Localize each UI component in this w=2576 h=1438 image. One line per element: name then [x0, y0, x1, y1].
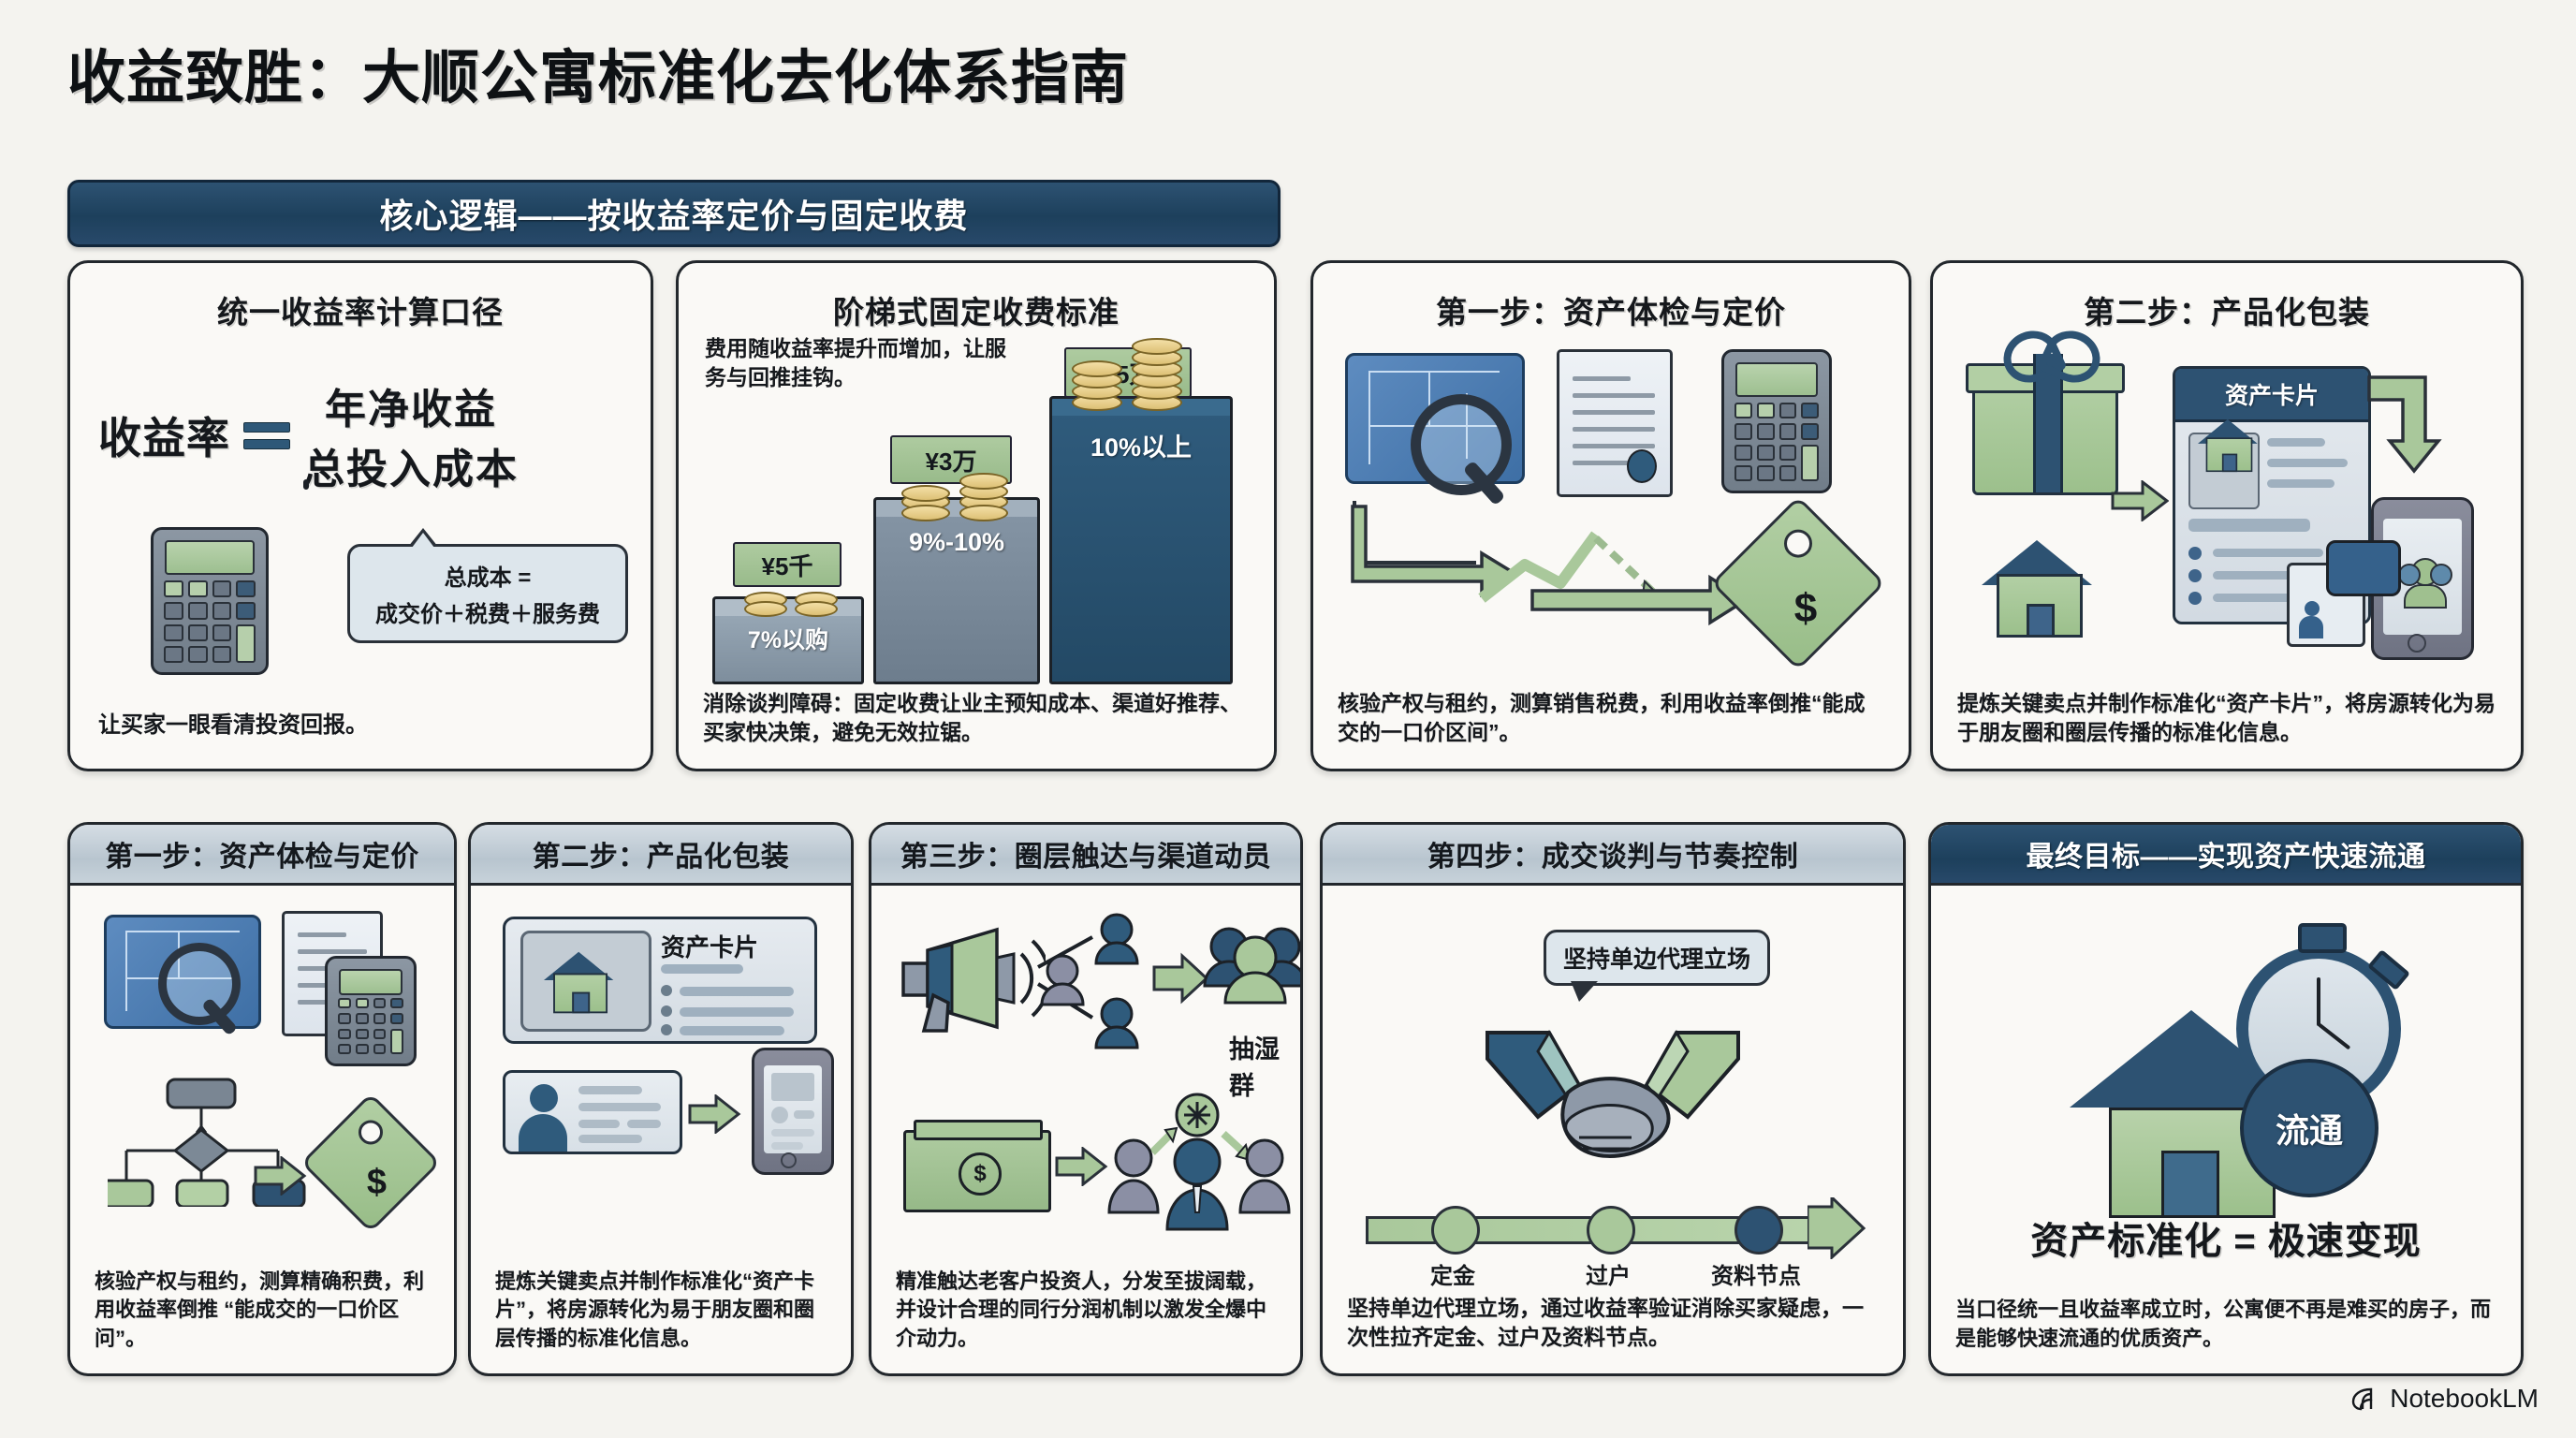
core-logic-banner-label: 核心逻辑——按收益率定价与固定收费 [379, 189, 968, 238]
formula-numerator: 年净收益 [303, 375, 519, 435]
card-step-3-caption: 精准触达老客户投资人，分发至拔阔载，并设计合理的同行分润机制以激发全爆中介动力。 [896, 1268, 1276, 1353]
total-cost-bubble: 总成本 = 成交价＋税费＋服务费 [347, 544, 628, 643]
fee-tier-bar-chart: 7%以购 ¥5千 9%-10% ¥3万 [705, 357, 1251, 684]
timeline-label-2: 过户 [1552, 1257, 1664, 1290]
magnifier-icon [158, 943, 241, 1025]
circulation-badge-icon: 流通 [2240, 1059, 2378, 1197]
card-step-4: 第四步：成交谈判与节奏控制 坚持单边代理立场 定金 过户 资料节点 坚持单边代理… [1320, 822, 1906, 1376]
card-step-2-header: 第二步：产品化包装 [471, 825, 851, 886]
bar-tier-3: 10%以上 [1049, 409, 1233, 684]
speech-bubble-icon [2326, 540, 2401, 596]
circulation-badge-label: 流通 [2276, 1104, 2343, 1152]
bar-tier-2: 9%-10% [873, 510, 1040, 684]
timeline-label-1: 定金 [1397, 1257, 1509, 1290]
card-step-2-caption: 提炼关键卖点并制作标准化“资产卡片”，将房源转化为易于朋友圈和圈层传播的标准化信… [495, 1268, 827, 1353]
infographic-page: 收益致胜：大顺公寓标准化去化体系指南 核心逻辑——按收益率定价与固定收费 统一收… [0, 0, 2576, 1438]
phone-icon [752, 1048, 834, 1175]
card-step-2-header-label: 第二步：产品化包装 [533, 833, 790, 874]
card-step-2: 第二步：产品化包装 资产卡片 [468, 822, 854, 1376]
card-step-3: 第三步：圈层触达与渠道动员 抽 [869, 822, 1303, 1376]
card-step-3-header-label: 第三步：圈层触达与渠道动员 [900, 833, 1272, 874]
bar-tier-3-category: 10%以上 [1090, 427, 1192, 463]
card-step2-top-title: 第二步：产品化包装 [1933, 287, 2521, 332]
card-final-goal: 最终目标——实现资产快速流通 流通 资产标准化 = 极速变现 当口径统一且收益率… [1928, 822, 2524, 1376]
total-cost-line1: 总成本 = [359, 559, 616, 592]
card-step-4-header-label: 第四步：成交谈判与节奏控制 [1427, 833, 1799, 874]
timeline-node-3 [1734, 1206, 1783, 1255]
card-step2-top-caption: 提炼关键卖点并制作标准化“资产卡片”，将房源转化为易于朋友圈和圈层传播的标准化信… [1957, 689, 2496, 748]
core-logic-banner: 核心逻辑——按收益率定价与固定收费 [67, 180, 1281, 247]
card-step-1-header-label: 第一步：资产体检与定价 [105, 833, 419, 874]
agents-icon [1100, 1089, 1296, 1239]
stance-speech-bubble-label: 坚持单边代理立场 [1563, 946, 1750, 973]
card-final-goal-header: 最终目标——实现资产快速流通 [1931, 825, 2521, 886]
notebooklm-logo-icon [2350, 1386, 2378, 1412]
card-step-3-header: 第三步：圈层触达与渠道动员 [871, 825, 1300, 886]
notebooklm-watermark-label: NotebookLM [2390, 1384, 2539, 1414]
card-fee-tiers: 阶梯式固定收费标准 费用随收益率提升而增加，让服务与回推挂钩。 7%以购 ¥5千… [676, 260, 1277, 771]
asset-card-icon: 资产卡片 [503, 917, 817, 1044]
bar-tier-1-value-note: ¥5千 [733, 542, 842, 587]
card-step1-top-title: 第一步：资产体检与定价 [1313, 287, 1909, 332]
stance-speech-bubble: 坚持单边代理立场 [1544, 930, 1770, 986]
document-icon [1557, 349, 1673, 497]
card-step1-top: 第一步：资产体检与定价 [1310, 260, 1911, 771]
card-fee-tiers-title: 阶梯式固定收费标准 [679, 287, 1274, 332]
card-fee-tiers-caption: 消除谈判障碍：固定收费让业主预知成本、渠道好推荐、买家快决策，避免无效拉锯。 [703, 689, 1250, 748]
magnifier-icon [1411, 394, 1512, 495]
timeline-node-1 [1431, 1206, 1480, 1255]
notebooklm-watermark: NotebookLM [2350, 1384, 2539, 1414]
equals-icon [243, 416, 290, 456]
card-yield-formula-caption: 让买家一眼看清投资回报。 [98, 706, 368, 739]
card-yield-formula: 统一收益率计算口径 收益率 年净收益 总投入成本 总成本 = 成交价＋税费＋服务… [67, 260, 653, 771]
card-step-1-header: 第一步：资产体检与定价 [70, 825, 454, 886]
money-icon: $ [903, 1130, 1051, 1212]
card-yield-formula-title: 统一收益率计算口径 [70, 287, 651, 332]
yield-formula: 收益率 年净收益 总投入成本 [98, 375, 622, 495]
card-step1-top-caption: 核验产权与租约，测算销售税费，利用收益率倒推“能成交的一口价区间”。 [1338, 689, 1884, 748]
house-icon [1982, 535, 2092, 638]
card-final-goal-caption: 当口径统一且收益率成立时，公寓便不再是难买的房子，而是能够快速流通的优质资产。 [1955, 1296, 2496, 1353]
bar-tier-1-category: 7%以购 [748, 622, 828, 655]
calculator-icon [151, 527, 269, 675]
arrow-down-icon [2365, 374, 2468, 477]
bar-tier-2-category: 9%-10% [909, 528, 1004, 557]
page-title: 收益致胜：大顺公寓标准化去化体系指南 [67, 30, 1129, 114]
fraction-bar [303, 479, 309, 490]
card-final-goal-header-label: 最终目标——实现资产快速流通 [2027, 833, 2426, 874]
formula-fraction: 年净收益 总投入成本 [303, 375, 519, 495]
card-step-1-caption: 核验产权与租约，测算精确积费，利用收益率倒推 “能成交的一口价区问”。 [95, 1268, 430, 1353]
arrow-right-icon [254, 1156, 308, 1196]
calculator-icon [1721, 349, 1832, 493]
total-cost-line2: 成交价＋税费＋服务费 [359, 595, 616, 628]
card-step-4-header: 第四步：成交谈判与节奏控制 [1323, 825, 1903, 886]
final-equation: 资产标准化 = 极速变现 [1931, 1211, 2521, 1265]
arrow-right-icon [2111, 480, 2169, 521]
formula-lhs: 收益率 [98, 404, 230, 466]
timeline-label-3: 资料节点 [1700, 1257, 1812, 1290]
bar-tier-1: 7%以购 [712, 609, 864, 684]
calculator-icon [325, 956, 417, 1066]
arrow-right-icon [688, 1094, 742, 1134]
card-step-1: 第一步：资产体检与定价 [67, 822, 457, 1376]
handshake-icon [1482, 1027, 1744, 1186]
card-step2-top: 第二步：产品化包装 资产卡片 [1930, 260, 2524, 771]
formula-denominator: 总投入成本 [303, 435, 519, 495]
asset-card-title: 资产卡片 [2225, 377, 2319, 411]
asset-card-title: 资产卡片 [661, 929, 758, 963]
card-step-4-caption: 坚持单边代理立场，通过收益率验证消除买家疑虑，一次性拉齐定金、过户及资料节点。 [1347, 1294, 1879, 1353]
profile-card-icon [503, 1070, 682, 1154]
timeline-node-2 [1587, 1206, 1635, 1255]
timeline-arrow-icon [1808, 1197, 1867, 1259]
gift-icon [1972, 379, 2118, 495]
